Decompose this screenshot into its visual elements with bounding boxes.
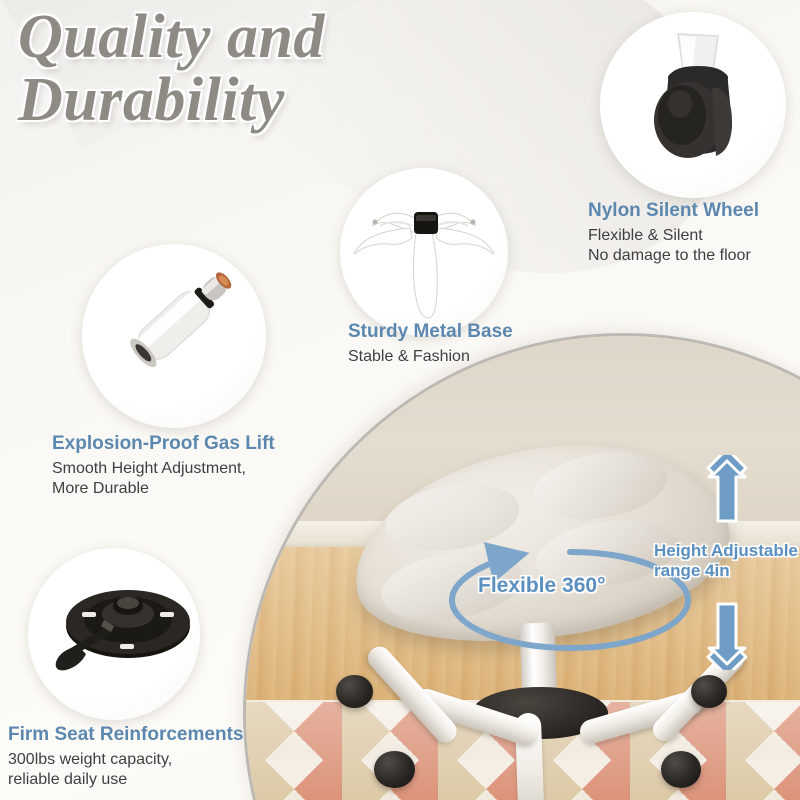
infographic-canvas: Flexible 360° Height Adjustable range 4i… [0,0,800,800]
page-title-line2: Durability [18,69,325,132]
caster-wheel [336,675,372,708]
page-title-line1: Quality and [18,6,325,69]
page-title: Quality and Durability [18,6,325,132]
height-adjustable-label: Height Adjustable range 4in [654,541,798,582]
feature-title: Sturdy Metal Base [348,320,513,344]
feature-title: Explosion-Proof Gas Lift [52,432,275,456]
feature-firm-seat-reinforcements: Firm Seat Reinforcements 300lbs weight c… [8,723,243,791]
flexible-360-label: Flexible 360° [478,573,605,598]
callout-explosion-proof-gas-lift [82,244,266,428]
feature-desc: Flexible & Silent No damage to the floor [588,226,759,267]
gas-cylinder-icon [82,244,266,428]
feature-title: Nylon Silent Wheel [588,199,759,223]
callout-firm-seat-reinforcements [28,548,200,720]
feature-desc: Stable & Fashion [348,347,513,367]
five-star-base-icon [340,168,508,336]
feature-desc: Smooth Height Adjustment, More Durable [52,459,275,500]
caster-wheel [374,751,415,789]
callout-nylon-silent-wheel [600,12,786,198]
feature-sturdy-metal-base: Sturdy Metal Base Stable & Fashion [348,320,513,367]
caster-wheel-icon [600,12,786,198]
caster-wheel [691,675,727,708]
feature-explosion-proof-gas-lift: Explosion-Proof Gas Lift Smooth Height A… [52,432,275,500]
seat-plate-mechanism-icon [28,548,200,720]
feature-nylon-silent-wheel: Nylon Silent Wheel Flexible & Silent No … [588,199,759,267]
feature-title: Firm Seat Reinforcements [8,723,243,747]
arrow-down-icon [700,600,754,670]
feature-desc: 300lbs weight capacity, reliable daily u… [8,750,243,791]
callout-sturdy-metal-base [340,168,508,336]
caster-wheel [661,751,702,789]
arrow-up-icon [700,455,754,525]
